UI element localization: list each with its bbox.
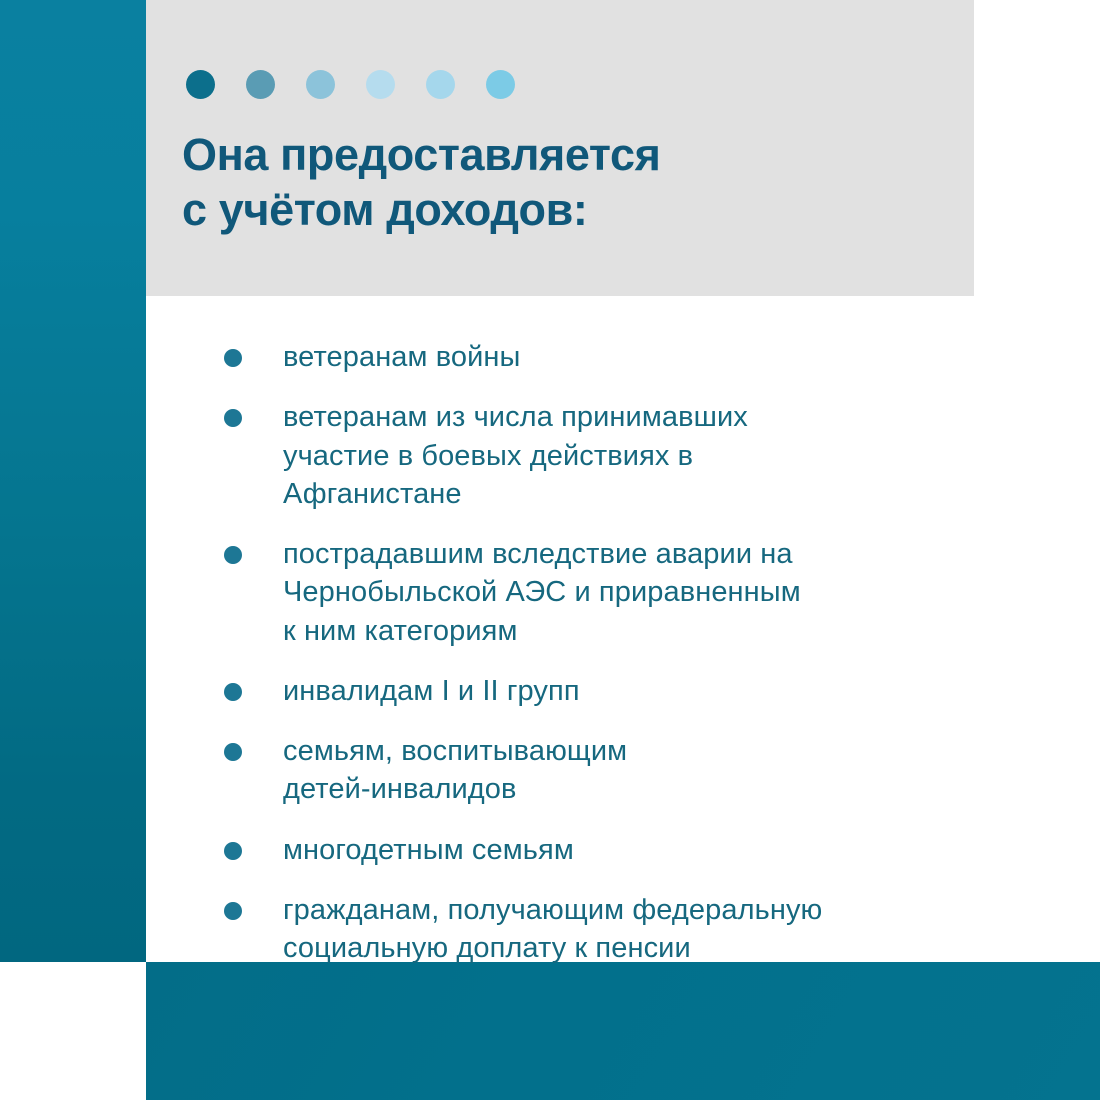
eligibility-list: ветеранам войныветеранам из числа приним… xyxy=(224,338,1014,967)
list-item-line: детей-инвалидов xyxy=(283,770,1014,808)
list-item-line: пострадавшим вследствие аварии на xyxy=(283,535,1014,573)
list-item-line: социальную доплату к пенсии xyxy=(283,929,1014,967)
list-item-line: гражданам, получающим федеральную xyxy=(283,891,1014,929)
list-item-line: Афганистане xyxy=(283,475,1014,513)
infographic-slide: Она предоставляетсяс учётом доходов: вет… xyxy=(0,0,1100,1100)
list-item: ветеранам из числа принимавшихучастие в … xyxy=(224,398,1014,513)
page-title-line: Она предоставляется xyxy=(182,128,942,183)
bullet-dot-icon xyxy=(224,409,242,427)
deco-dot-4-icon xyxy=(366,70,395,99)
list-item-line: участие в боевых действиях в xyxy=(283,437,1014,475)
list-item-line: инвалидам I и II групп xyxy=(283,672,1014,710)
bullet-dot-icon xyxy=(224,902,242,920)
list-item-label: ветеранам войны xyxy=(283,338,1014,376)
bullet-dot-icon xyxy=(224,546,242,564)
deco-dot-5-icon xyxy=(426,70,455,99)
list-item-label: многодетным семьям xyxy=(283,831,1014,869)
list-item-line: ветеранам из числа принимавших xyxy=(283,398,1014,436)
left-accent-band xyxy=(0,0,146,962)
deco-dot-1-icon xyxy=(186,70,215,99)
deco-dot-3-icon xyxy=(306,70,335,99)
list-item-line: семьям, воспитывающим xyxy=(283,732,1014,770)
list-item: ветеранам войны xyxy=(224,338,1014,376)
list-item-line: к ним категориям xyxy=(283,612,1014,650)
page-title: Она предоставляетсяс учётом доходов: xyxy=(182,128,942,238)
bullet-dot-icon xyxy=(224,349,242,367)
list-item-label: ветеранам из числа принимавшихучастие в … xyxy=(283,398,1014,513)
list-item: многодетным семьям xyxy=(224,831,1014,869)
bullet-dot-icon xyxy=(224,683,242,701)
list-item-line: Чернобыльской АЭС и приравненным xyxy=(283,573,1014,611)
bottom-accent-bar xyxy=(146,962,1100,1100)
list-item-label: гражданам, получающим федеральнуюсоциаль… xyxy=(283,891,1014,968)
decorative-dot-row xyxy=(186,70,515,99)
page-title-line: с учётом доходов: xyxy=(182,183,942,238)
list-item-label: семьям, воспитывающимдетей-инвалидов xyxy=(283,732,1014,809)
bullet-dot-icon xyxy=(224,842,242,860)
list-item: инвалидам I и II групп xyxy=(224,672,1014,710)
list-item-line: ветеранам войны xyxy=(283,338,1014,376)
deco-dot-6-icon xyxy=(486,70,515,99)
list-item-line: многодетным семьям xyxy=(283,831,1014,869)
bullet-dot-icon xyxy=(224,743,242,761)
list-item-label: пострадавшим вследствие аварии наЧернобы… xyxy=(283,535,1014,650)
list-item: семьям, воспитывающимдетей-инвалидов xyxy=(224,732,1014,809)
list-item-label: инвалидам I и II групп xyxy=(283,672,1014,710)
list-item: пострадавшим вследствие аварии наЧернобы… xyxy=(224,535,1014,650)
list-item: гражданам, получающим федеральнуюсоциаль… xyxy=(224,891,1014,968)
deco-dot-2-icon xyxy=(246,70,275,99)
